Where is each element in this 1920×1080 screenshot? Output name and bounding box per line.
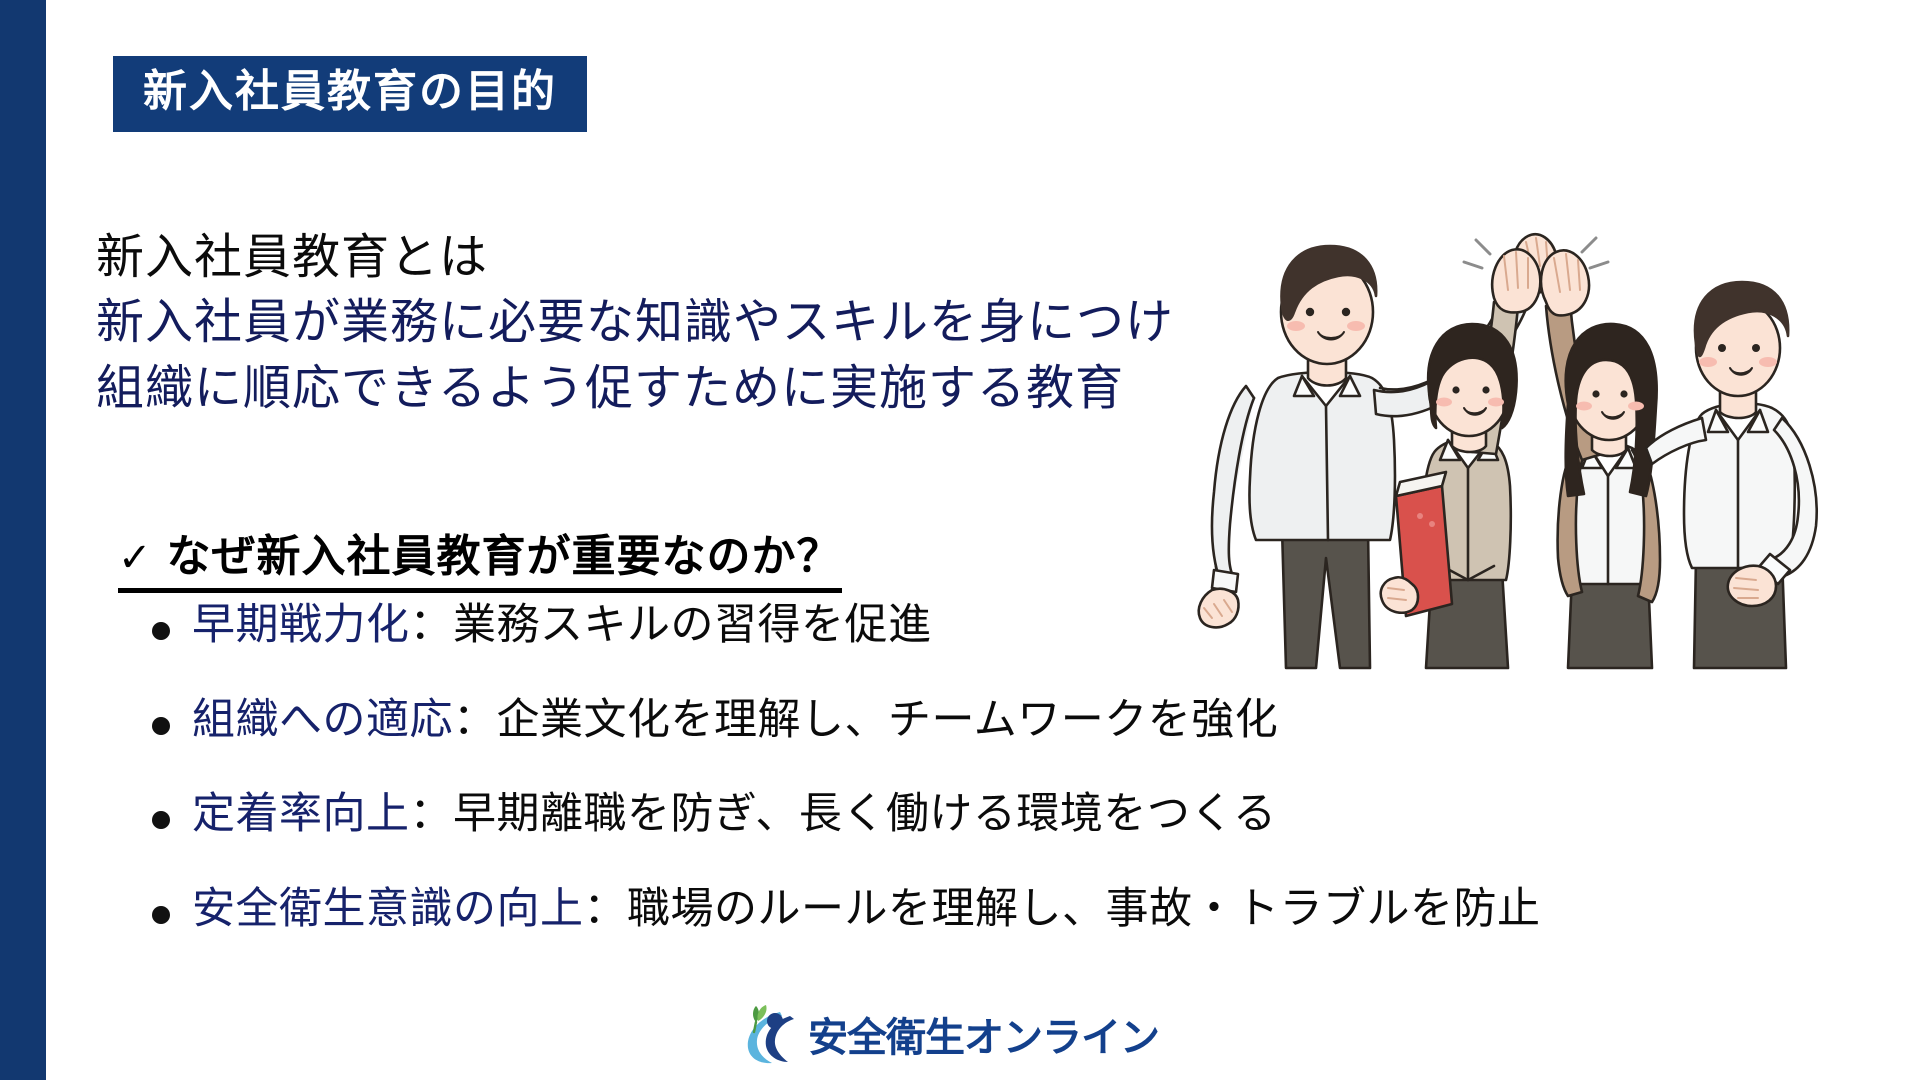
team-high-five-illustration	[1190, 228, 1850, 688]
list-item-desc: 早期離職を防ぎ、長く働ける環境をつくる	[453, 789, 1277, 839]
person-with-leaves-logo-mark	[740, 1002, 806, 1066]
list-item: 定着率向上：早期離職を防ぎ、長く働ける環境をつくる	[152, 789, 1852, 840]
list-item-key: 組織への適応	[192, 695, 453, 745]
list-item-desc: 業務スキルの習得を促進	[453, 600, 932, 650]
bullet-dot-icon	[152, 811, 170, 829]
list-item-text: 定着率向上：早期離職を防ぎ、長く働ける環境をつくる	[192, 789, 1277, 840]
intro-line-3: 組織に順応できるよう促すために実施する教育	[96, 356, 1174, 421]
list-item-text: 安全衛生意識の向上：職場のルールを理解し、事故・トラブルを防止	[192, 884, 1541, 935]
page-title: 新入社員教育の目的	[143, 70, 557, 114]
bullet-dot-icon	[152, 622, 170, 640]
brand-logo: 安全衛生オンライン	[740, 996, 1160, 1072]
list-item-desc: 職場のルールを理解し、事故・トラブルを防止	[627, 884, 1541, 934]
intro-line-1: 新入社員教育とは	[96, 225, 1174, 290]
left-accent-bar	[0, 0, 46, 1080]
intro-line-2: 新入社員が業務に必要な知識やスキルを身につけ	[96, 290, 1174, 355]
intro-block: 新入社員教育とは 新入社員が業務に必要な知識やスキルを身につけ 組織に順応できる…	[96, 225, 1174, 421]
list-item-desc: 企業文化を理解し、チームワークを強化	[497, 695, 1279, 745]
list-item-key: 早期戦力化	[192, 600, 410, 650]
list-item-sep: ：	[410, 789, 454, 839]
bullet-dot-icon	[152, 717, 170, 735]
list-item-key: 定着率向上	[192, 789, 410, 839]
section-heading: ✓なぜ新入社員教育が重要なのか？	[118, 520, 842, 593]
logo-wordmark: 安全衛生オンライン	[808, 1005, 1159, 1063]
list-item-sep: ：	[410, 600, 454, 650]
section-heading-label: なぜ新入社員教育が重要なのか？	[167, 531, 842, 582]
list-item: 安全衛生意識の向上：職場のルールを理解し、事故・トラブルを防止	[152, 884, 1852, 935]
list-item-key: 安全衛生意識の向上	[192, 884, 584, 934]
list-item-text: 組織への適応：企業文化を理解し、チームワークを強化	[192, 695, 1278, 746]
list-item-sep: ：	[584, 884, 628, 934]
slide-root: 新入社員教育の目的 新入社員教育とは 新入社員が業務に必要な知識やスキルを身につ…	[0, 0, 1920, 1080]
list-item-sep: ：	[453, 695, 497, 745]
list-item: 組織への適応：企業文化を理解し、チームワークを強化	[152, 695, 1852, 746]
title-badge: 新入社員教育の目的	[113, 56, 587, 132]
list-item-text: 早期戦力化：業務スキルの習得を促進	[192, 600, 932, 651]
check-icon: ✓	[118, 535, 153, 581]
bullet-dot-icon	[152, 906, 170, 924]
